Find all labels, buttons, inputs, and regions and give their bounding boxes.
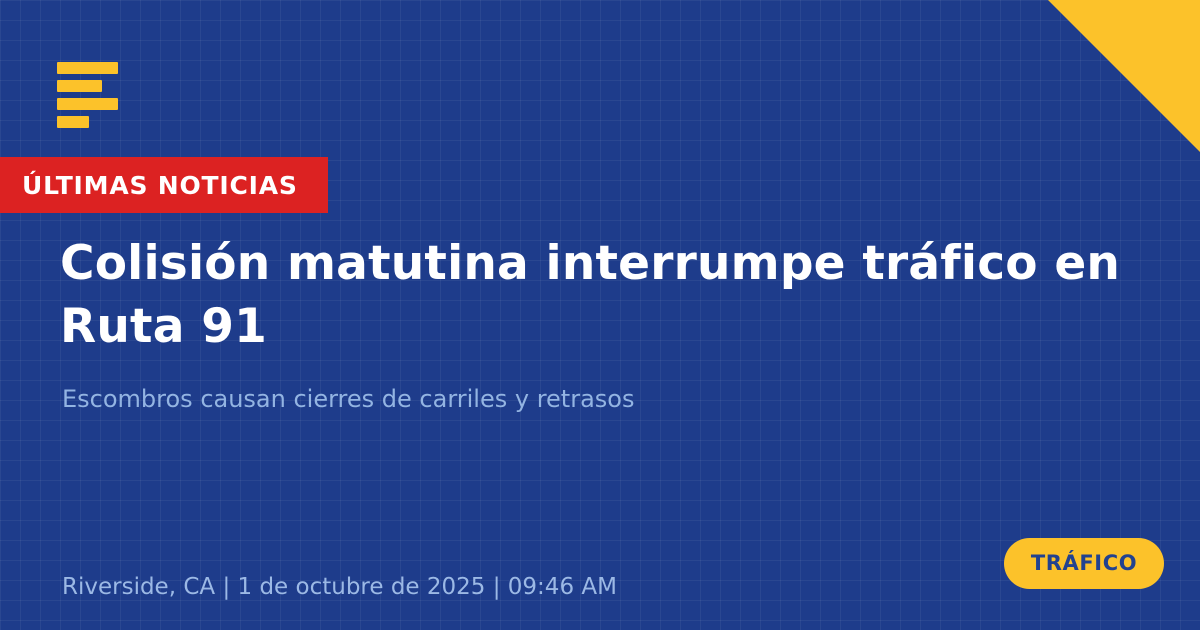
subtitle: Escombros causan cierres de carriles y r… [62, 383, 1062, 415]
category-badge: TRÁFICO [1004, 538, 1164, 589]
corner-accent-triangle [1048, 0, 1200, 152]
footer-meta: Riverside, CA | 1 de octubre de 2025 | 0… [62, 574, 617, 602]
headline: Colisión matutina interrumpe tráfico en … [60, 233, 1190, 358]
category-badge-label: TRÁFICO [1031, 553, 1137, 574]
breaking-news-banner: ÚLTIMAS NOTICIAS [0, 157, 328, 213]
logo-bar-3 [57, 98, 118, 110]
logo-bar-2 [57, 80, 102, 92]
logo-bar-4 [57, 116, 89, 128]
breaking-news-label: ÚLTIMAS NOTICIAS [22, 173, 298, 198]
logo-bar-1 [57, 62, 118, 74]
news-logo [57, 62, 118, 128]
breaking-news-card: ÚLTIMAS NOTICIAS Colisión matutina inter… [0, 0, 1200, 630]
